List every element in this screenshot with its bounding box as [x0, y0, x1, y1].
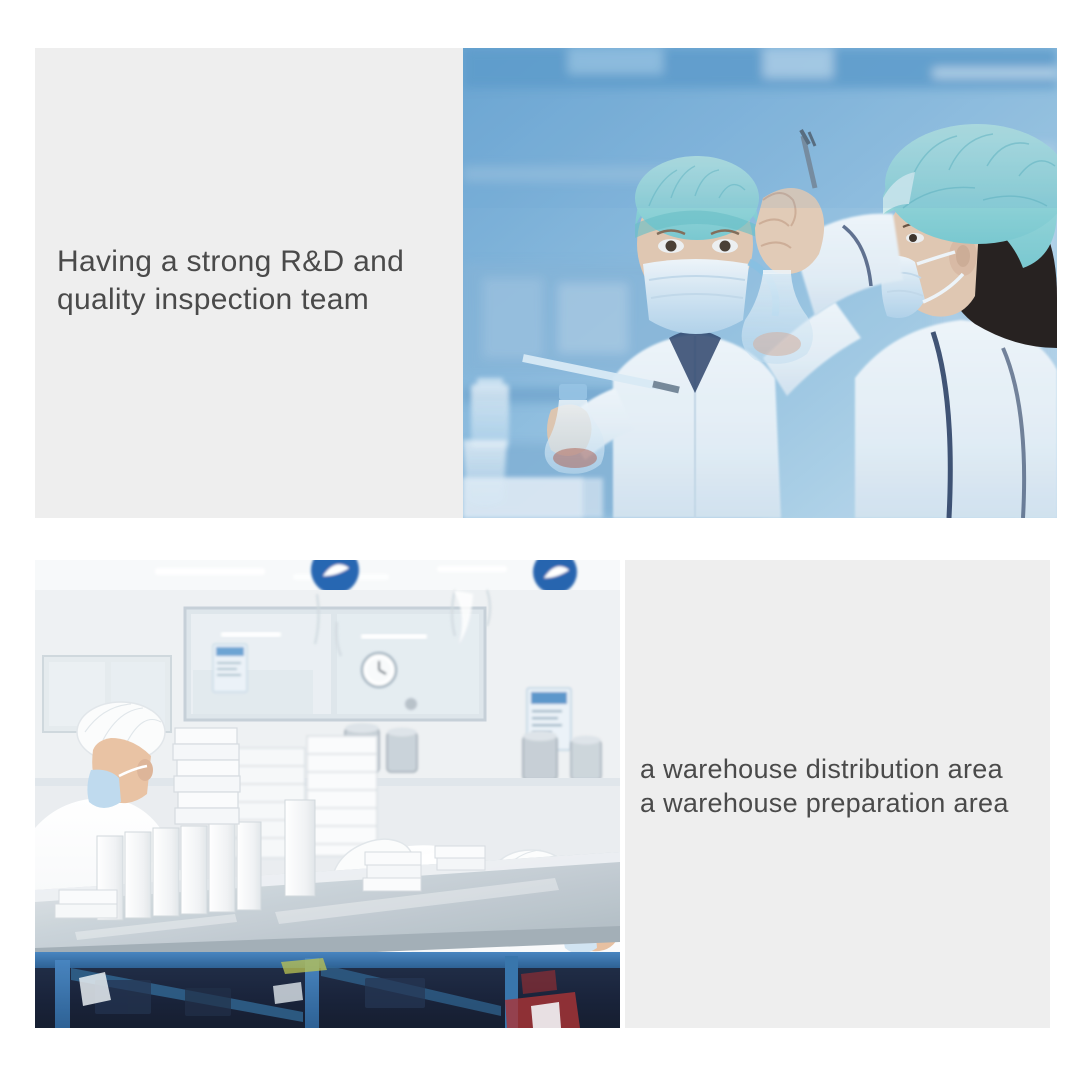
- rd-quality-caption: Having a strong R&D and quality inspecti…: [57, 243, 404, 319]
- warehouse-packing-photo: [35, 560, 620, 1028]
- lab-technicians-photo: [463, 48, 1057, 518]
- warehouse-caption: a warehouse distribution area a warehous…: [640, 752, 1009, 820]
- warehouse-caption-panel: a warehouse distribution area a warehous…: [625, 560, 1050, 1028]
- lab-technicians-illustration: [463, 48, 1057, 518]
- page-root: Having a strong R&D and quality inspecti…: [0, 0, 1080, 1080]
- caption-line-2: a warehouse preparation area: [640, 786, 1009, 820]
- warehouse-packing-illustration: [35, 560, 620, 1028]
- caption-line-1: a warehouse distribution area: [640, 752, 1009, 786]
- caption-line-2: quality inspection team: [57, 281, 404, 319]
- caption-line-1: Having a strong R&D and: [57, 243, 404, 281]
- rd-quality-caption-panel: Having a strong R&D and quality inspecti…: [35, 48, 465, 518]
